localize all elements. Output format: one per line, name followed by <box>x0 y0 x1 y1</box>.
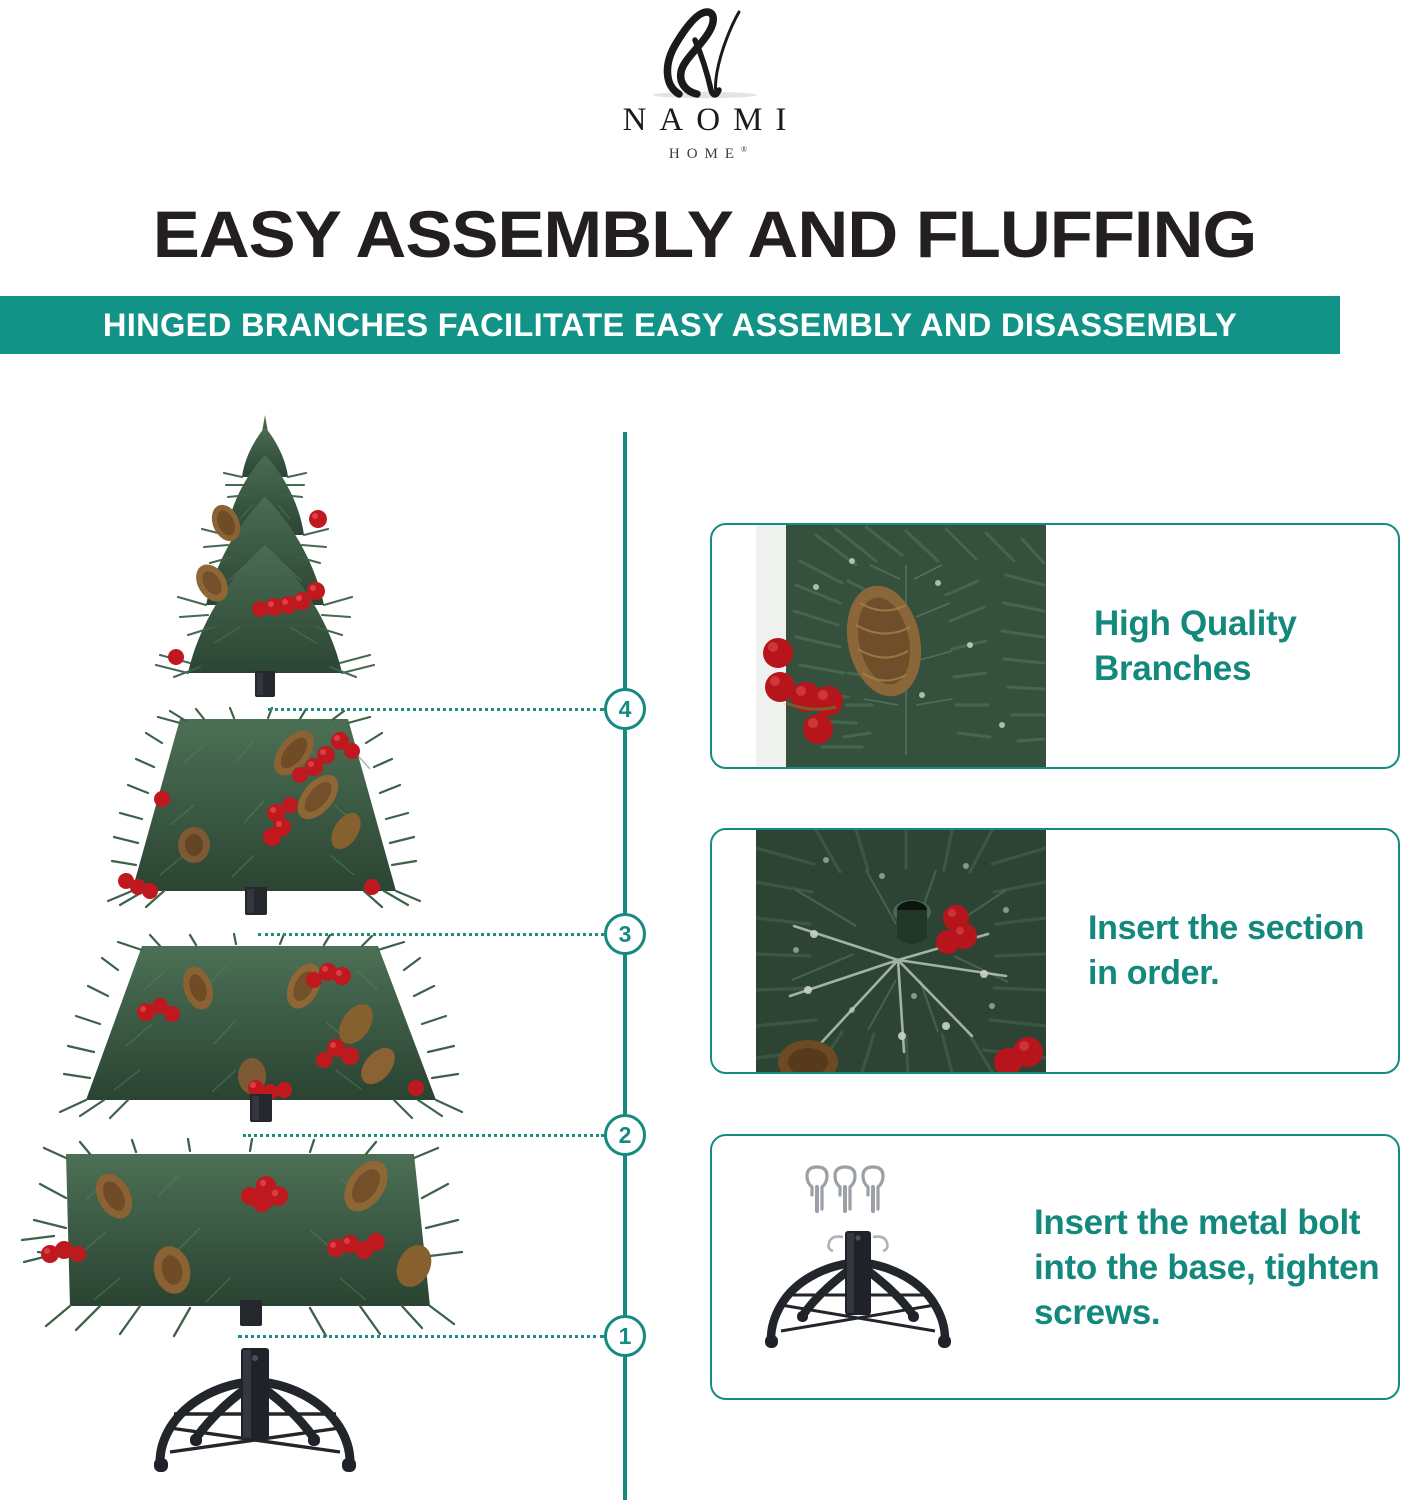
assembly-marker-4-label: 4 <box>619 698 632 721</box>
leader-line-2 <box>243 1134 604 1137</box>
feature-card-insert-section[interactable]: Insert the section in order. <box>710 828 1400 1074</box>
branch-closeup-photo <box>756 525 1046 767</box>
leader-line-3 <box>258 933 604 936</box>
assembly-marker-2[interactable]: 2 <box>604 1114 646 1156</box>
tree-bottom-section <box>10 1136 490 1348</box>
assembly-marker-2-label: 2 <box>619 1124 632 1147</box>
brand-wordmark: NAOMI <box>610 104 800 137</box>
feature-card-title: Insert the section in order. <box>1046 830 1398 1072</box>
brand-sub-wordmark: HOME® <box>662 146 747 162</box>
page-headline: EASY ASSEMBLY AND FLUFFING <box>0 196 1409 272</box>
feature-card-high-quality-branches[interactable]: High Quality Branches <box>710 523 1400 769</box>
subheading-text: HINGED BRANCHES FACILITATE EASY ASSEMBLY… <box>0 307 1353 344</box>
assembly-marker-3-label: 3 <box>619 923 632 946</box>
assembly-marker-1[interactable]: 1 <box>604 1315 646 1357</box>
feature-card-title: High Quality Branches <box>1046 525 1398 767</box>
tree-stand-with-screws-illustration <box>712 1136 1012 1398</box>
leader-line-1 <box>238 1335 604 1338</box>
naomi-script-n-monogram-icon <box>635 6 775 102</box>
feature-card-title: Insert the metal bolt into the base, tig… <box>1012 1136 1398 1398</box>
brand-logo: NAOMI HOME® <box>0 6 1409 162</box>
assembly-marker-1-label: 1 <box>619 1325 632 1348</box>
branch-socket-photo <box>756 830 1046 1072</box>
feature-card-insert-bolt[interactable]: Insert the metal bolt into the base, tig… <box>710 1134 1400 1400</box>
subheading-banner: HINGED BRANCHES FACILITATE EASY ASSEMBLY… <box>0 296 1340 354</box>
tree-metal-stand <box>140 1342 370 1492</box>
tree-upper-middle-section <box>104 705 424 923</box>
assembly-marker-4[interactable]: 4 <box>604 688 646 730</box>
leader-line-4 <box>268 708 604 711</box>
assembly-marker-3[interactable]: 3 <box>604 913 646 955</box>
tree-top-section <box>140 415 390 705</box>
tree-lower-middle-section <box>56 932 466 1128</box>
